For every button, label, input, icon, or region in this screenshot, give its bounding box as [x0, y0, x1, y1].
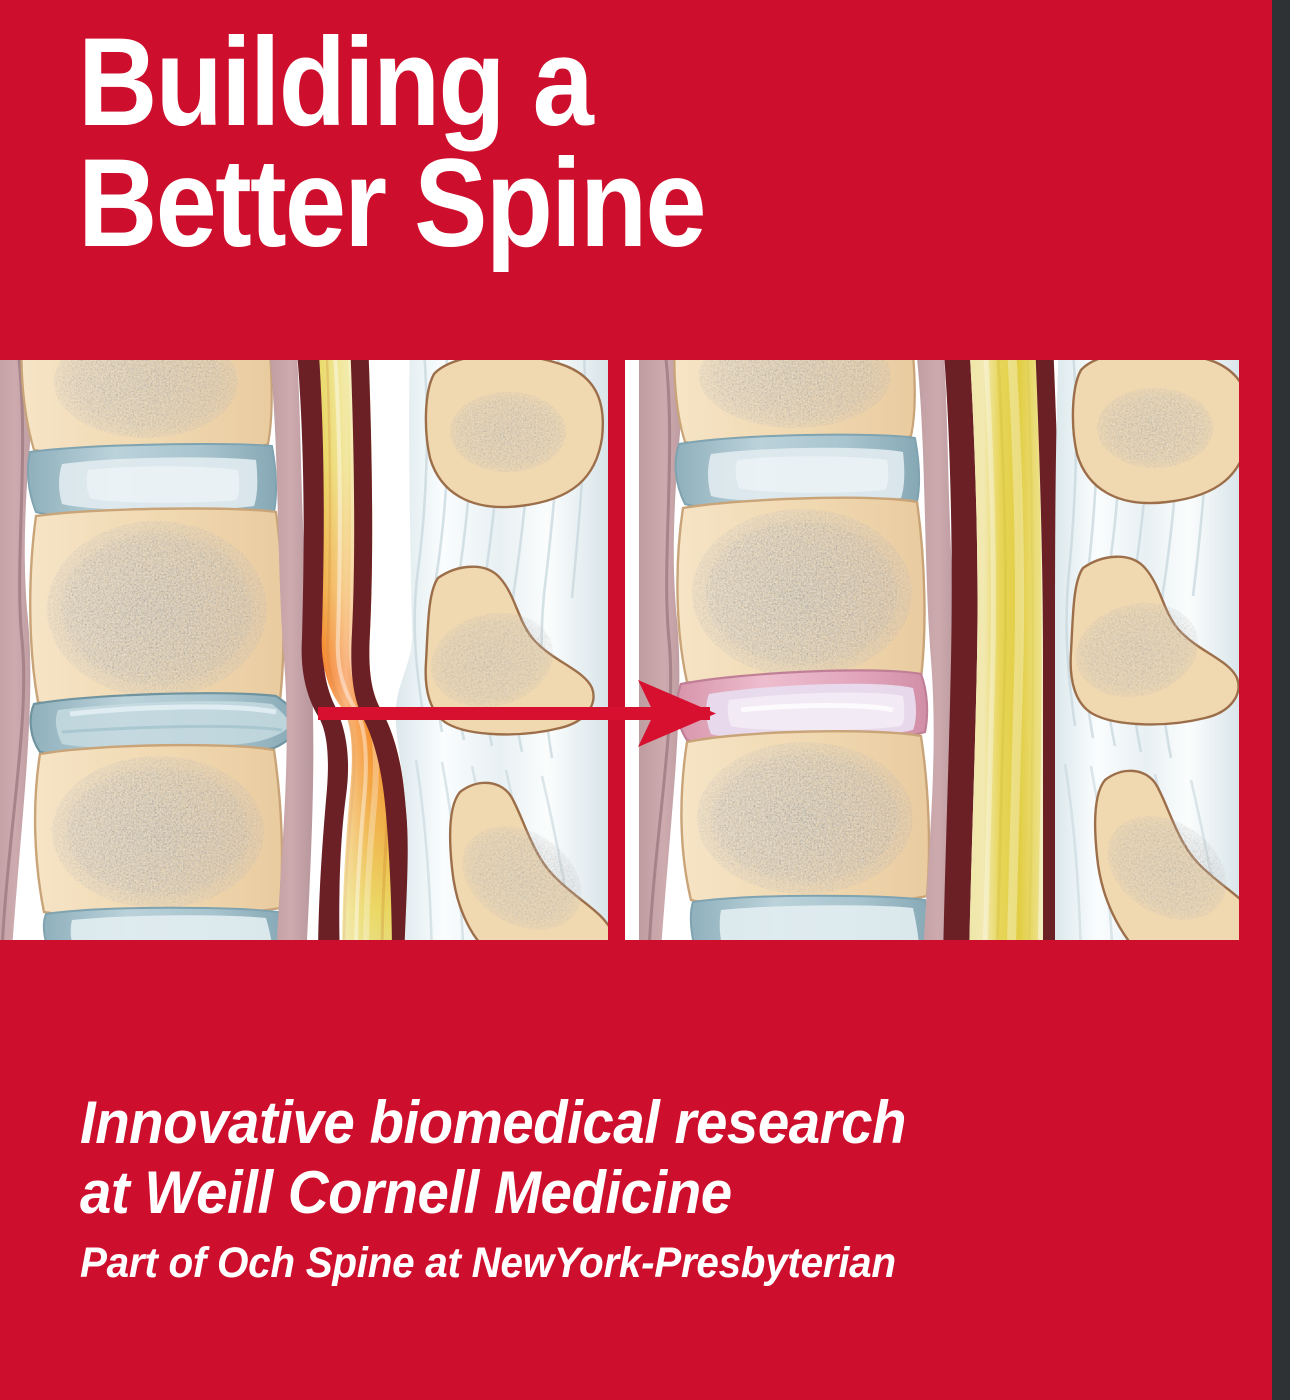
posterior-bone-upper	[426, 360, 603, 507]
affiliation: Part of Och Spine at NewYork-Presbyteria…	[80, 1238, 1114, 1290]
intervertebral-disc-bottom-partial	[44, 908, 284, 940]
vertebral-body-middle	[677, 498, 924, 689]
posterior-elements	[396, 360, 608, 940]
vertebral-body-middle	[30, 509, 283, 709]
restored-spine-panel	[625, 360, 1239, 940]
restored-spine-illustration	[625, 360, 1239, 940]
edge-strip	[1272, 0, 1290, 1400]
degenerated-spine-illustration	[0, 360, 608, 940]
footer-text-block: Innovative biomedical research at Weill …	[80, 1088, 1180, 1290]
intervertebral-disc-bottom-partial	[691, 896, 931, 940]
illustration-band	[0, 360, 1239, 940]
poster-root: Building a Better Spine	[0, 0, 1290, 1400]
vertebral-body-lower	[35, 745, 282, 916]
degenerated-spine-panel	[0, 360, 608, 940]
tagline: Innovative biomedical research at Weill …	[80, 1088, 1114, 1228]
posterior-bone-upper	[1073, 360, 1239, 503]
vertebral-body-upper	[674, 360, 914, 447]
page-title: Building a Better Spine	[78, 22, 958, 265]
vertebral-body-upper	[22, 360, 272, 455]
posterior-elements	[1055, 360, 1239, 940]
vertebral-body-lower	[681, 731, 929, 906]
